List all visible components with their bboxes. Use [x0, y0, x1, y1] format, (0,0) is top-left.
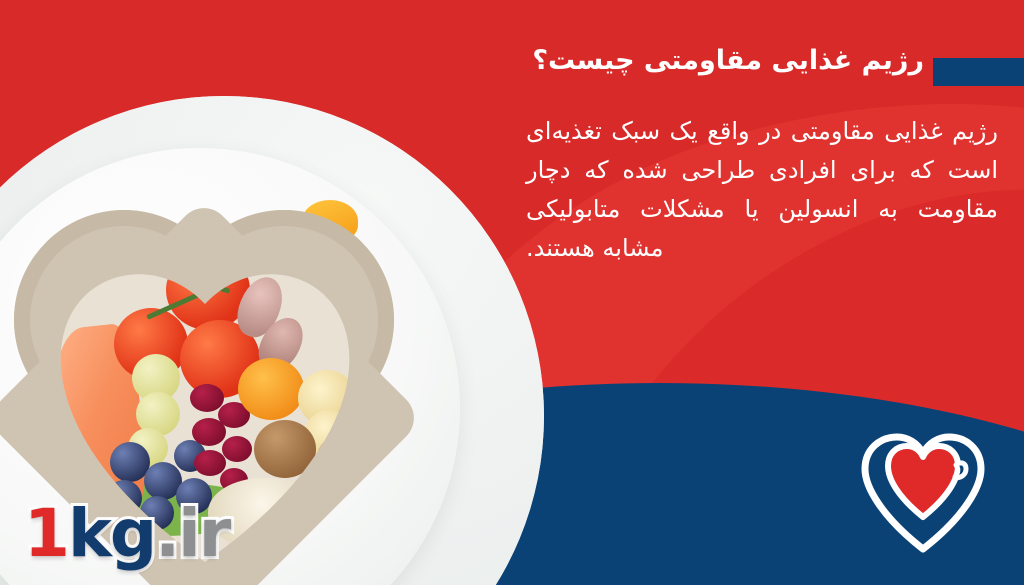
promo-banner: رژیم غذایی مقاومتی چیست؟ رژیم غذایی مقاو… [0, 0, 1024, 585]
body-paragraph: رژیم غذایی مقاومتی در واقع یک سبک تغذیه‌… [526, 112, 998, 268]
heart-notch [955, 463, 966, 478]
heart-logo-icon [860, 431, 986, 553]
logo-text-ir: .ir [155, 495, 229, 572]
food-cranberry [190, 384, 224, 412]
food-cranberry [194, 450, 226, 476]
site-logo-wordmark[interactable]: 1kg.ir [24, 501, 229, 567]
headline-accent-bar [933, 58, 1024, 86]
headline-title: رژیم غذایی مقاومتی چیست؟ [484, 44, 924, 78]
logo-text-1: 1 [24, 495, 68, 572]
food-cranberry [222, 436, 252, 462]
food-cranberry [192, 418, 226, 446]
food-carrot [238, 358, 304, 420]
logo-text-kg: kg [68, 495, 155, 572]
